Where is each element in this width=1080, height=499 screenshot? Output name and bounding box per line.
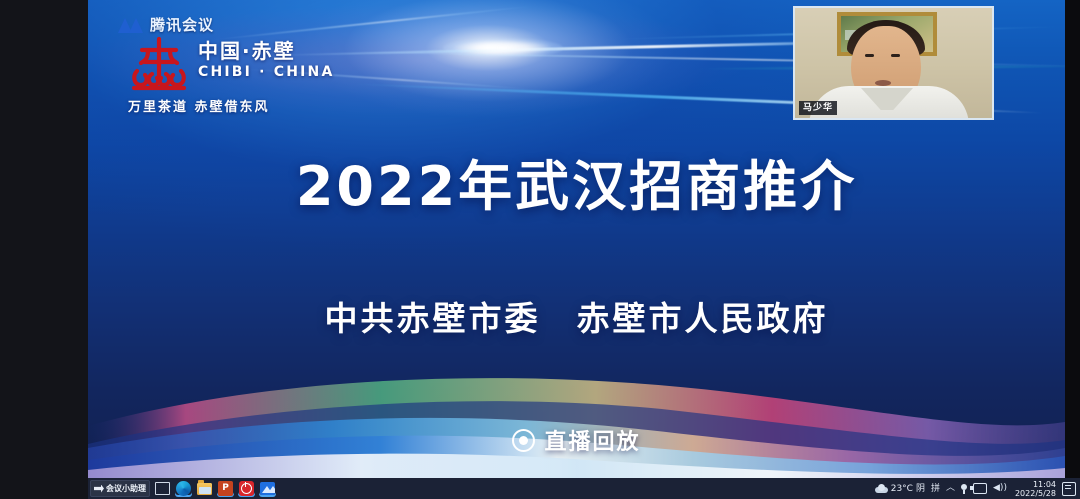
recorder-icon [239,481,254,496]
participant-name-label: 马少华 [799,101,837,115]
live-replay-badge: 直播回放 [88,424,1065,456]
chibi-gate-emblem-icon [128,36,190,92]
windows-taskbar[interactable]: 会议小助理 P 2 [0,478,1080,499]
task-view-icon [155,482,170,495]
meeting-assistant-button[interactable]: 会议小助理 [90,480,150,497]
microphone-icon[interactable] [961,484,967,494]
weather-condition: 阴 [916,484,925,494]
letterbox-left [0,0,88,499]
powerpoint-glyph: P [222,484,229,493]
letterbox-right [1065,0,1080,499]
edge-taskbar-button[interactable] [175,480,192,497]
task-view-button[interactable] [154,480,171,497]
file-explorer-icon [197,483,212,495]
tencent-meeting-logo-icon [118,17,144,33]
chevron-up-icon[interactable]: ︿ [946,484,955,493]
record-circle-icon [512,429,535,452]
clock-widget[interactable]: 11:04 2022/5/28 [1013,480,1056,498]
slide-subtitle: 中共赤壁市委 赤壁市人民政府 [88,292,1065,340]
live-replay-label: 直播回放 [544,424,640,456]
chibi-logo-tagline: 万里茶道 赤壁借东风 [128,96,358,115]
weather-temperature: 23°C [891,484,913,494]
tencent-meeting-brand: 腾讯会议 [118,14,214,35]
system-tray: 23°C 阴 拼 ︿ ◀)) 11:04 2022/5/28 [875,480,1080,498]
screen-share-view: 腾讯会议 [0,0,1080,499]
tencent-meeting-taskbar-icon [260,482,275,495]
slide-title: 2022年武汉招商推介 [88,142,1065,221]
volume-icon[interactable]: ◀)) [993,484,1007,493]
clock-time: 11:04 [1015,480,1056,489]
ime-indicator[interactable]: 拼 [931,484,940,494]
taskbar-app-area: 会议小助理 P [88,480,276,497]
weather-widget[interactable]: 23°C 阴 [875,484,925,494]
clock-date: 2022/5/28 [1015,489,1056,498]
tencent-meeting-taskbar-button[interactable] [259,480,276,497]
chibi-logo-cn: 中国·赤壁 [198,40,335,63]
recorder-taskbar-button[interactable] [238,480,255,497]
participant-eye [865,54,874,57]
participant-video-tile[interactable]: 马少华 [793,6,994,120]
powerpoint-taskbar-button[interactable]: P [217,480,234,497]
lens-flare-icon [443,38,563,58]
microsoft-edge-icon [176,481,191,496]
powerpoint-icon: P [218,481,233,496]
notification-center-icon[interactable] [1062,482,1076,496]
cloud-icon [875,484,888,493]
file-explorer-taskbar-button[interactable] [196,480,213,497]
taskbar-left-pad [0,478,88,499]
decorative-wave-graphic [88,348,1065,478]
meeting-assistant-label: 会议小助理 [106,484,146,493]
network-icon[interactable] [973,483,987,494]
tencent-meeting-label: 腾讯会议 [150,14,214,35]
meeting-assistant-icon [94,485,104,493]
chibi-city-logo: 中国·赤壁 CHIBI · CHINA 万里茶道 赤壁借东风 [128,36,358,115]
participant-eye [891,54,900,57]
chibi-logo-en: CHIBI · CHINA [198,63,335,81]
